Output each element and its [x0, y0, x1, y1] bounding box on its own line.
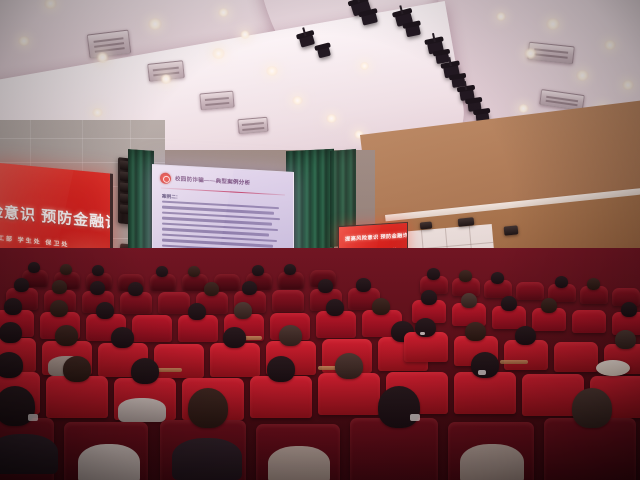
- ceiling-downlight: [266, 66, 278, 76]
- auditorium-photo: 险意识 预防金融诈骗 学工部 学生处 保卫处 校园防诈骗——典型案例分析 案例二…: [0, 0, 640, 480]
- ceiling-downlight: [148, 18, 162, 30]
- ceiling-downlight: [92, 108, 103, 117]
- face-mask: [28, 414, 38, 421]
- hvac-vent: [237, 117, 268, 135]
- audience-head: [188, 388, 228, 428]
- audience-hat: [596, 360, 630, 376]
- ceiling-downlight: [96, 52, 109, 63]
- ceiling-downlight: [546, 18, 560, 30]
- face-mask: [410, 414, 420, 421]
- ceiling-downlight: [212, 48, 225, 59]
- ceiling-downlight: [524, 48, 537, 59]
- ceiling-downlight: [240, 30, 250, 39]
- ceiling-downlight: [360, 62, 369, 70]
- ceiling-downlight: [218, 8, 229, 17]
- ceiling-downlight: [326, 114, 337, 123]
- audience-seating-area: [0, 248, 640, 480]
- wall-speaker: [458, 217, 475, 227]
- hvac-vent: [199, 91, 234, 111]
- ceiling-downlight: [496, 12, 506, 21]
- ceiling-downlight: [160, 74, 172, 84]
- ceiling-downlight: [518, 104, 529, 113]
- hvac-vent: [87, 30, 132, 59]
- ceiling-downlight: [576, 70, 589, 81]
- ceiling-downlight: [18, 36, 30, 46]
- audience-head: [378, 386, 420, 428]
- audience-head: [572, 388, 612, 428]
- wall-speaker: [504, 225, 519, 235]
- ceiling-downlight: [622, 80, 634, 90]
- wall-speaker: [420, 221, 433, 229]
- ceiling-downlight: [292, 96, 303, 105]
- ceiling-downlight: [604, 40, 616, 50]
